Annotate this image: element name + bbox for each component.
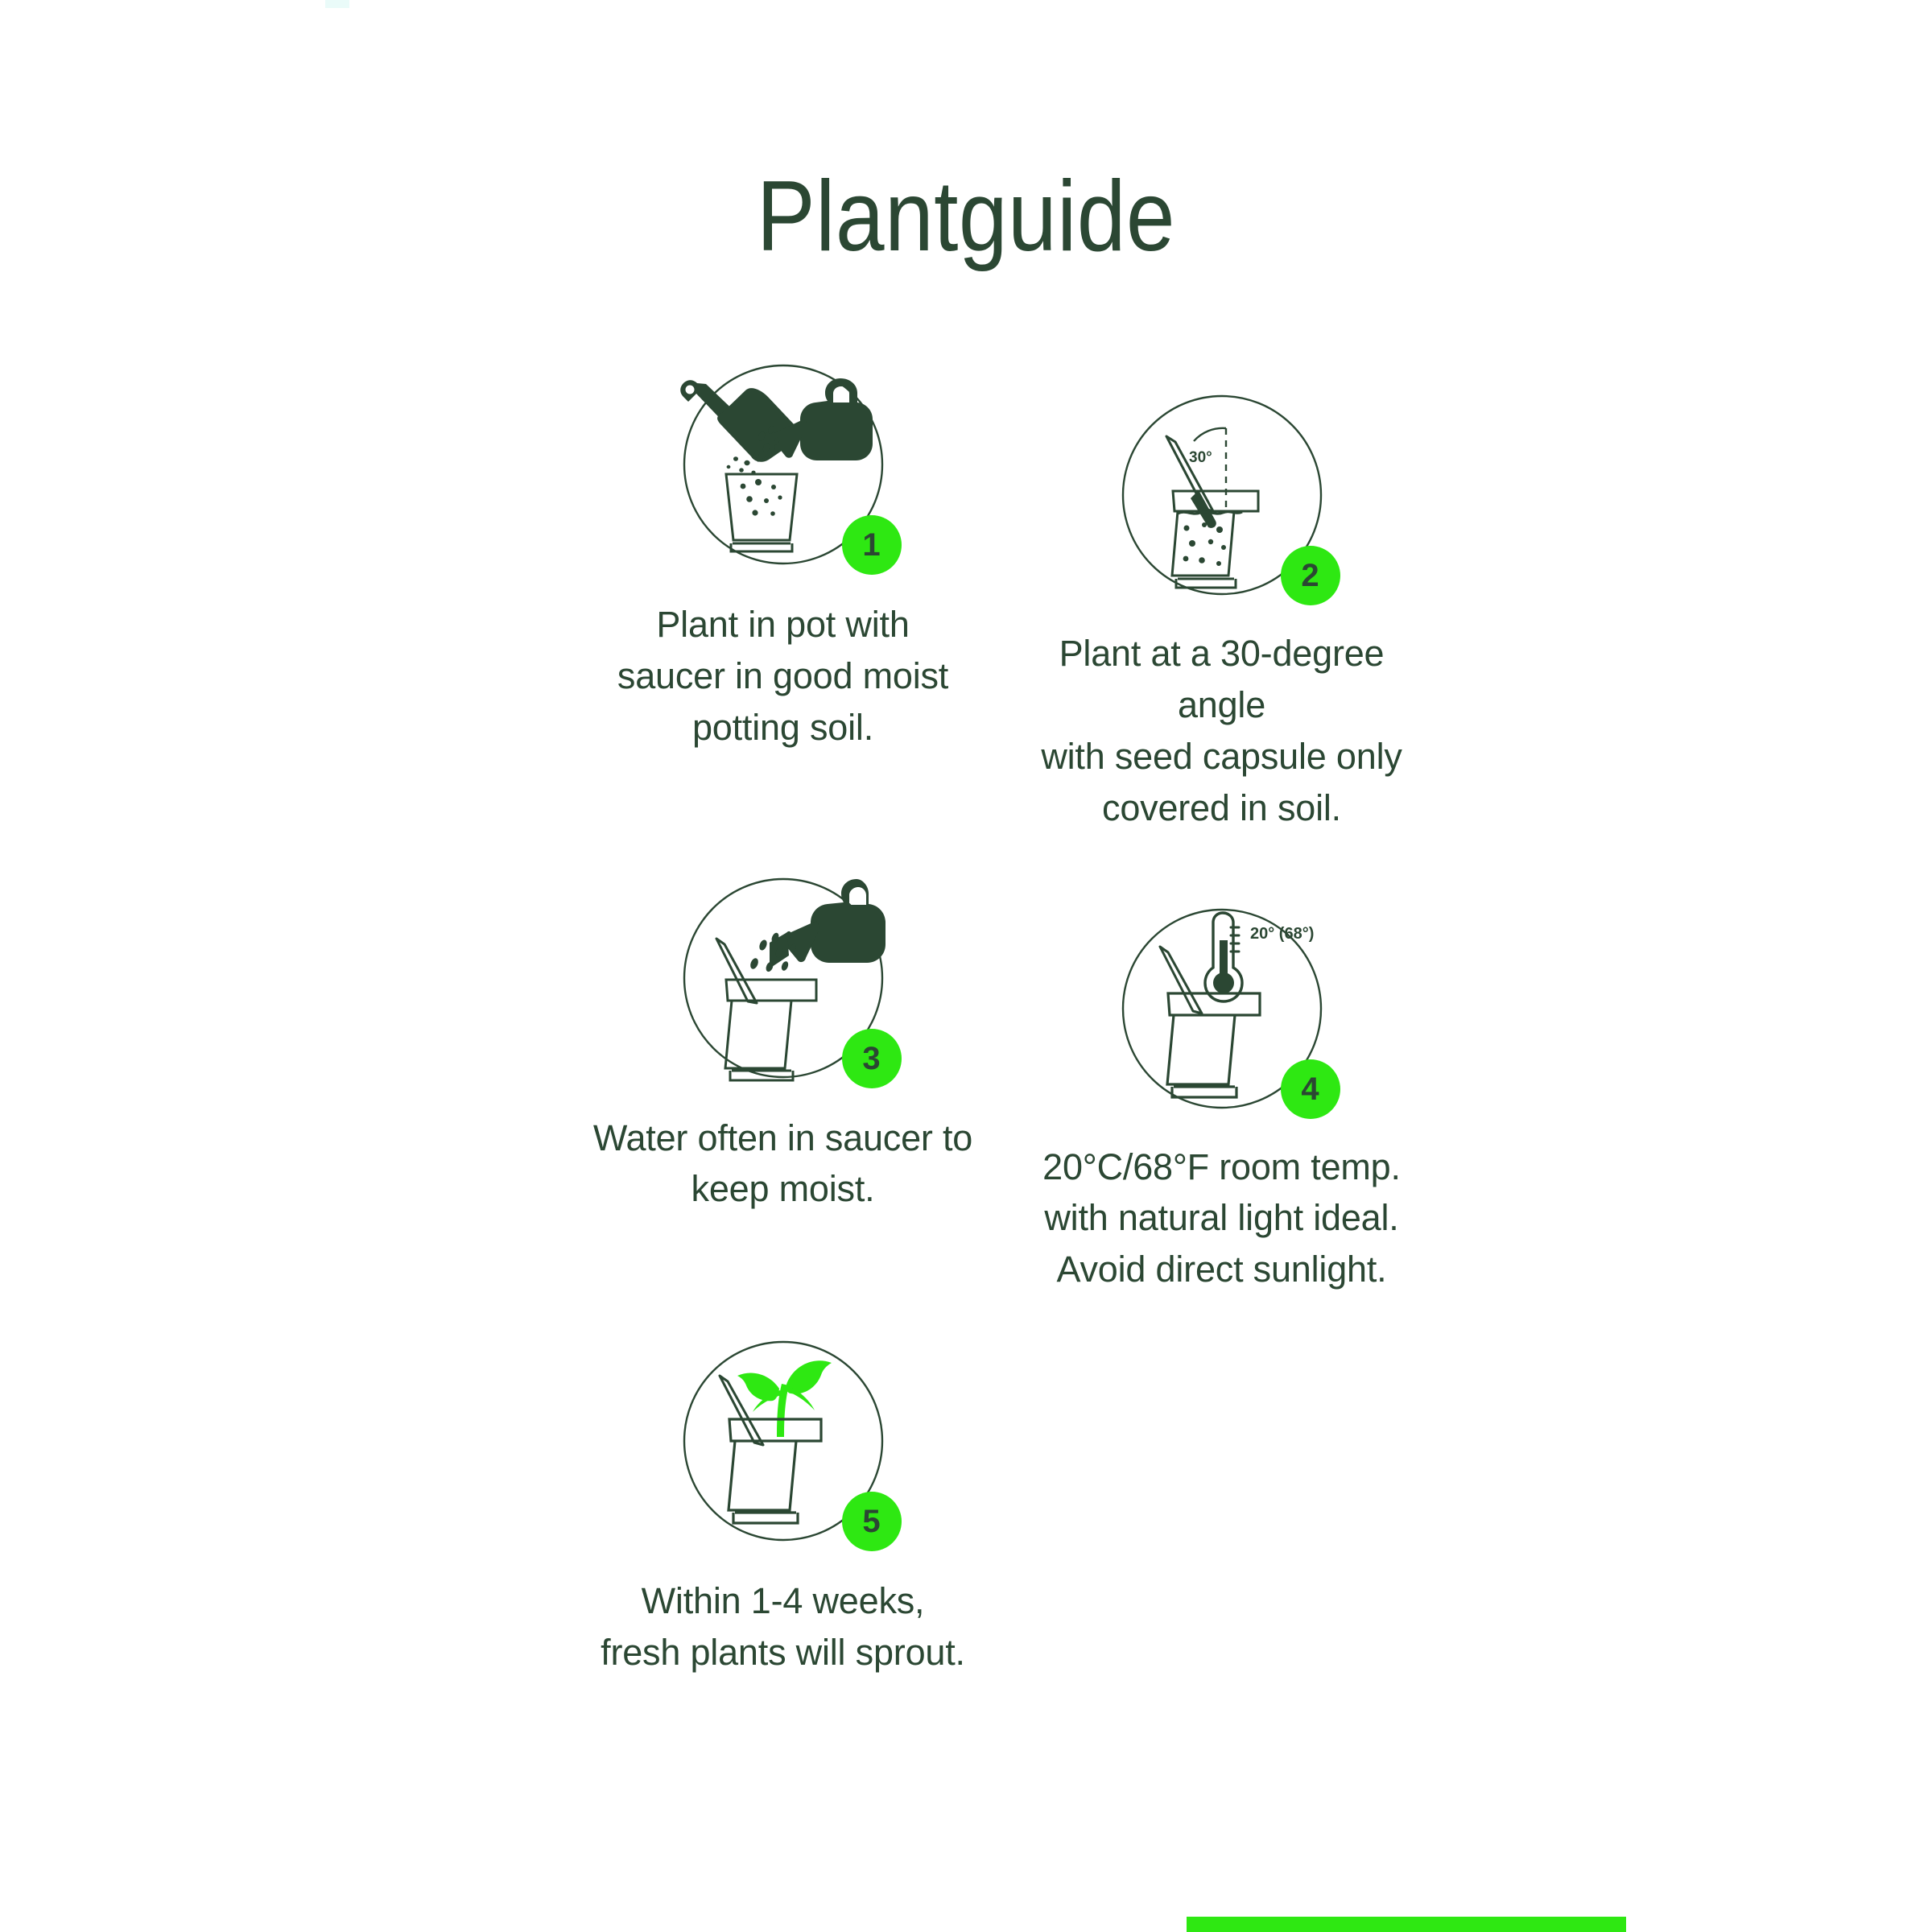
caption-line: Plant at a 30-degree angle [1013,628,1431,731]
caption-line: potting soil. [617,702,948,753]
step-item-4[interactable]: 20° (68°) 4 20°C/68°F room tem [1002,861,1441,1296]
step-caption: Water often in saucer to keep moist. [593,1113,972,1216]
page-title: Plantguide [116,162,1816,271]
step-caption: Plant in pot with saucer in good moist p… [617,599,948,753]
step-1-icon-wrap: 1 [667,348,900,581]
caption-line: Within 1-4 weeks, [601,1575,965,1627]
caption-line: saucer in good moist [617,650,948,702]
caption-line: 20°C/68°F room temp. [1042,1141,1401,1193]
caption-line: fresh plants will sprout. [601,1627,965,1678]
step-item-3[interactable]: 3 Water often in saucer to keep moist. [563,861,1002,1216]
step-3-icon-wrap: 3 [667,861,900,1095]
step-item-5[interactable]: 5 Within 1-4 weeks, fresh plants will sp… [563,1324,1002,1678]
step-caption: 20°C/68°F room temp. with natural light … [1042,1141,1401,1296]
caption-line: with seed capsule only [1013,731,1431,782]
step-item-1[interactable]: 1 Plant in pot with saucer in good moist… [563,348,1002,753]
caption-line: Water often in saucer to [593,1113,972,1164]
step-row: 1 Plant in pot with saucer in good moist… [563,348,1441,834]
step-badge: 3 [842,1029,902,1088]
step-badge: 1 [842,515,902,575]
caption-line: with natural light ideal. [1042,1192,1401,1244]
caption-line: Plant in pot with [617,599,948,650]
step-badge: 2 [1281,546,1340,605]
step-4-icon-wrap: 20° (68°) 4 [1105,892,1339,1125]
capture-artifact [325,0,349,8]
step-row: 3 Water often in saucer to keep moist. [563,861,1441,1296]
step-5-icon-wrap: 5 [667,1324,900,1558]
angle-label-text: 30° [1189,449,1212,466]
step-row: 5 Within 1-4 weeks, fresh plants will sp… [563,1324,1441,1678]
caption-line: keep moist. [593,1163,972,1215]
step-2-icon-wrap: 30° [1105,378,1339,612]
bottom-accent-bar [1187,1917,1626,1932]
step-item-2[interactable]: 30° [1002,348,1441,834]
plantguide-steps-grid: 1 Plant in pot with saucer in good moist… [563,348,1441,1678]
caption-line: Avoid direct sunlight. [1042,1244,1401,1295]
step-caption: Within 1-4 weeks, fresh plants will spro… [601,1575,965,1678]
step-badge: 5 [842,1492,902,1551]
step-caption: Plant at a 30-degree angle with seed cap… [1013,628,1431,834]
temperature-label-text: 20° (68°) [1250,925,1314,943]
step-badge: 4 [1281,1059,1340,1119]
caption-line: covered in soil. [1013,782,1431,834]
